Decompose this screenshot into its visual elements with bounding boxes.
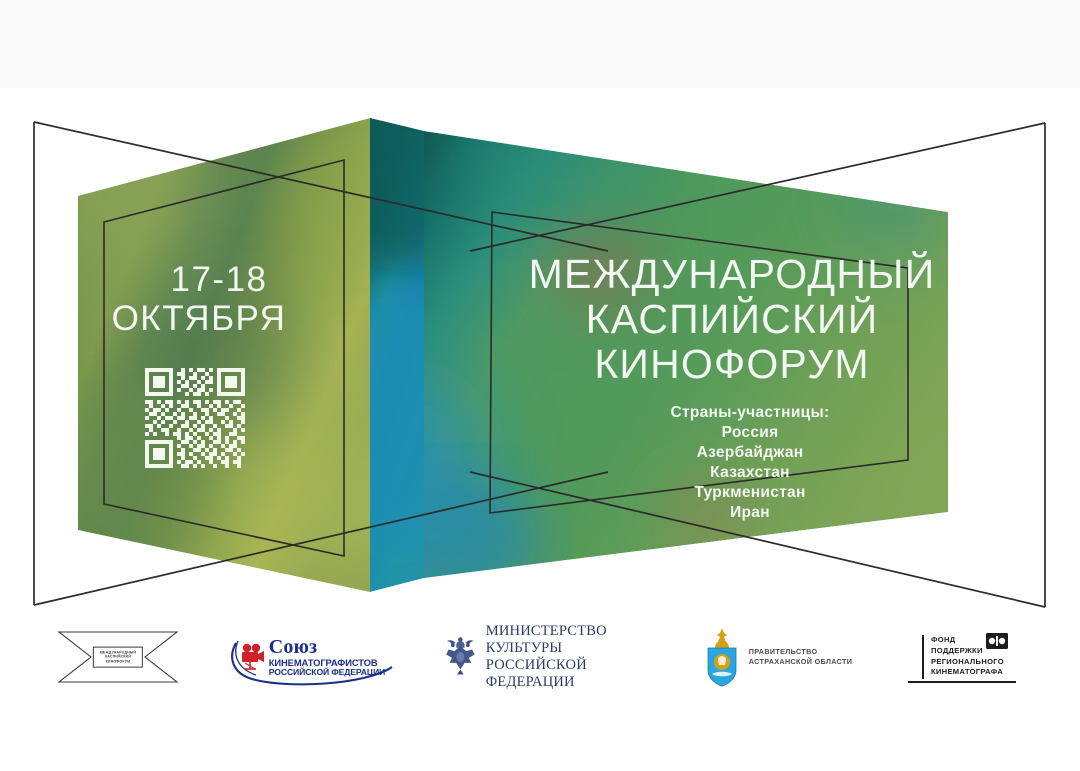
- fund-underline-icon: [908, 681, 1016, 683]
- country-item-1: Россия: [722, 424, 779, 441]
- logo-union-of-cinematographers[interactable]: Союз КИНЕМАТОГРАФИСТОВ РОССИЙСКОЙ ФЕДЕРА…: [226, 621, 398, 693]
- logo-ministry-of-culture[interactable]: МИНИСТЕРСТВО КУЛЬТУРЫ РОССИЙСКОЙ ФЕДЕРАЦ…: [442, 621, 654, 693]
- astrakhan-coat-of-arms-icon: [702, 626, 742, 688]
- title-line-3: КИНОФОРУМ: [594, 341, 869, 387]
- soyuz-line-1: Союз: [269, 637, 386, 658]
- poster-canvas: 17-18 ОКТЯБРЯ: [0, 0, 1080, 771]
- logo-regional-cinema-fund[interactable]: ФОНД ПОДДЕРЖКИ РЕГИОНАЛЬНОГО КИНЕМАТОГРА…: [900, 621, 1026, 693]
- film-camera-icon: [239, 643, 265, 671]
- fund-rule-icon: [922, 635, 924, 679]
- logo-caspian-forum-text: МЕЖДУНАРОДНЫЙ КАСПИЙСКИЙ КИНОФОРУМ: [93, 647, 143, 668]
- film-reel-bracket-icon: [986, 633, 1008, 651]
- logo-astrakhan-government[interactable]: ПРАВИТЕЛЬСТВО АСТРАХАНСКОЙ ОБЛАСТИ: [698, 621, 856, 693]
- title-line-1: МЕЖДУНАРОДНЫЙ: [529, 251, 936, 297]
- country-item-2: Азербайджан: [697, 444, 804, 461]
- ministry-text: МИНИСТЕРСТВО КУЛЬТУРЫ РОССИЙСКОЙ ФЕДЕРАЦ…: [486, 623, 654, 691]
- astrakhan-text: ПРАВИТЕЛЬСТВО АСТРАХАНСКОЙ ОБЛАСТИ: [749, 647, 852, 666]
- country-item-3: Казахстан: [710, 464, 790, 481]
- date-line-month: ОКТЯБРЯ: [112, 299, 287, 338]
- country-item-4: Туркменистан: [694, 484, 805, 501]
- countries-heading: Страны-участницы:: [670, 404, 829, 421]
- title-line-2: КАСПИЙСКИЙ: [586, 296, 879, 342]
- soyuz-line-3: РОССИЙСКОЙ ФЕДЕРАЦИИ: [269, 668, 386, 677]
- double-headed-eagle-icon: [442, 632, 479, 682]
- country-item-5: Иран: [730, 504, 770, 521]
- logo-caspian-forum[interactable]: МЕЖДУНАРОДНЫЙ КАСПИЙСКИЙ КИНОФОРУМ: [54, 621, 182, 693]
- date-line-day: 17-18: [170, 260, 267, 299]
- partner-logo-bar: МЕЖДУНАРОДНЫЙ КАСПИЙСКИЙ КИНОФОРУМ: [0, 612, 1080, 702]
